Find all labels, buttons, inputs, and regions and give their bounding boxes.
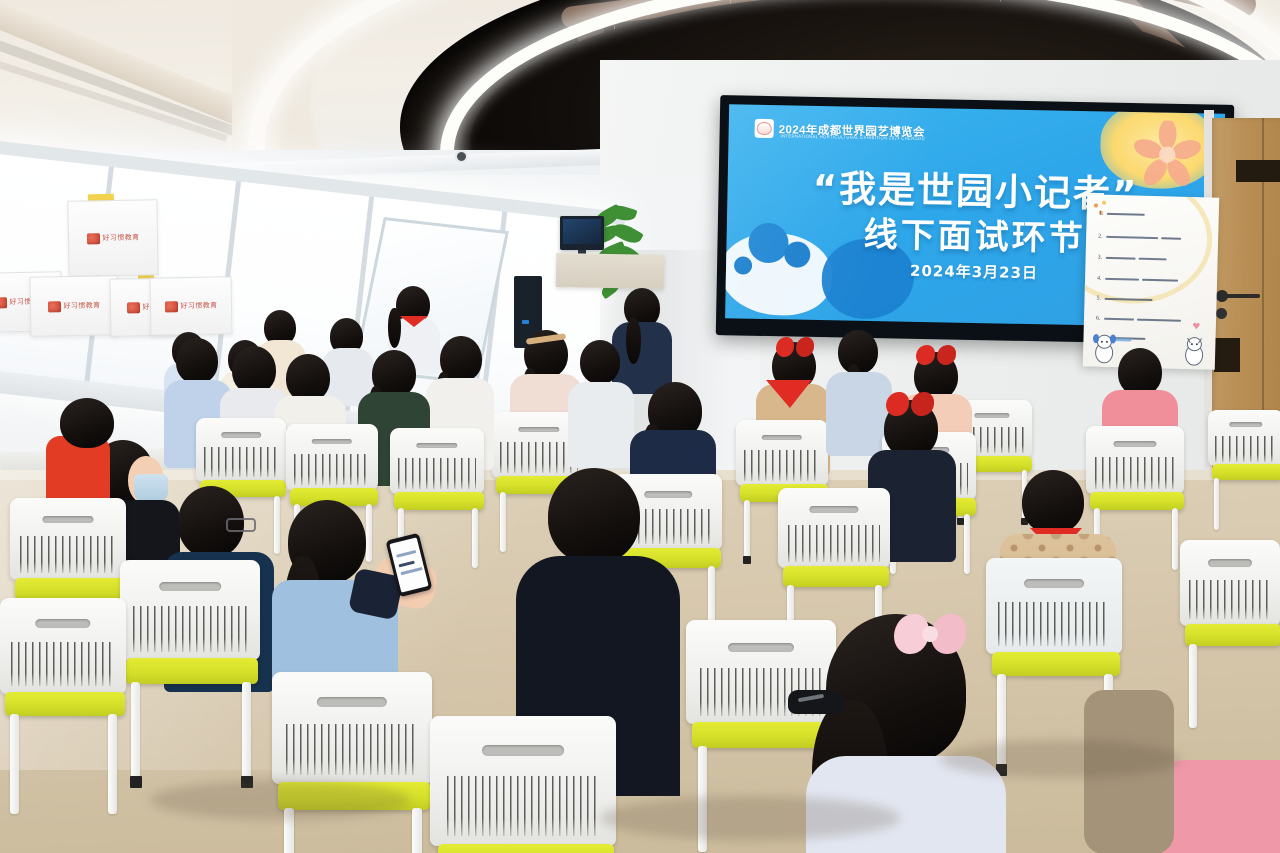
logo-box: 好习惯教育: [29, 275, 118, 337]
whiteboard-dot: [1102, 201, 1106, 205]
whiteboard-item-number: 4.: [1097, 276, 1102, 282]
brand-logo-icon: [47, 301, 60, 312]
lectern-panel: [556, 253, 665, 289]
whiteboard-item: 5.: [1096, 296, 1152, 303]
logo-box-label: 好习惯教育: [102, 233, 139, 244]
audience-head: [176, 338, 218, 384]
hair-bow-knot: [922, 626, 938, 642]
mascot-doodle-icon: [1089, 332, 1120, 365]
floor-shadow: [600, 796, 900, 840]
audience-head: [580, 340, 620, 384]
audience-head: [548, 468, 640, 564]
whiteboard-flipchart: 1. 2. 3. 4. 5. 6. 7.: [1083, 194, 1219, 369]
audience-head: [232, 346, 276, 394]
hair-bow: [916, 345, 956, 365]
floor-shadow: [150, 780, 410, 820]
door-lock-icon[interactable]: [1216, 308, 1227, 319]
door-kick-plate: [1214, 338, 1240, 372]
logo-box: 好习惯教育: [150, 276, 233, 335]
audience-torso: [568, 382, 634, 468]
audience-head: [1118, 348, 1162, 396]
shoe: [788, 690, 844, 714]
brand-logo-icon: [164, 301, 177, 312]
whiteboard-item-number: 2.: [1098, 234, 1103, 240]
ponytail: [388, 308, 401, 348]
brand-logo-icon: [0, 297, 7, 308]
logo-box: 好习惯教育: [67, 199, 158, 277]
mascot-doodle-icon: [1179, 335, 1210, 368]
photo-scene: 好习惯教育 好习惯教育 好习惯教育 好习惯教育 好习惯教育: [0, 0, 1280, 853]
whiteboard-item-number: 3.: [1098, 255, 1103, 261]
hair-bow: [776, 337, 814, 357]
brand-logo-icon: [86, 233, 99, 244]
whiteboard-item-number: 6.: [1096, 316, 1101, 322]
eyeglasses-icon: [226, 518, 256, 532]
floor-shadow: [940, 740, 1180, 778]
whiteboard-item: 6.: [1096, 316, 1181, 324]
whiteboard-item-number: 1.: [1099, 211, 1104, 217]
whiteboard-item-number: 5.: [1096, 296, 1101, 302]
motion-sensor-icon: [457, 152, 466, 161]
hair-bow: [886, 392, 934, 416]
brand-logo-icon: [126, 302, 139, 313]
door-lock-icon[interactable]: [1216, 290, 1228, 302]
monitor-screen: [563, 219, 601, 244]
whiteboard-item: 1.: [1099, 211, 1145, 218]
ponytail: [626, 318, 641, 364]
audience-head: [1022, 470, 1084, 534]
heart-doodle-icon: [1193, 322, 1200, 329]
door-vent: [1236, 160, 1280, 182]
power-led-icon: [522, 320, 529, 324]
audience-head: [60, 398, 114, 448]
whiteboard-dot: [1094, 203, 1098, 207]
logo-box-label: 好习惯教育: [180, 301, 217, 312]
logo-box-label: 好习惯教育: [63, 301, 100, 312]
audience-head: [286, 354, 330, 402]
face-mask: [134, 474, 168, 502]
